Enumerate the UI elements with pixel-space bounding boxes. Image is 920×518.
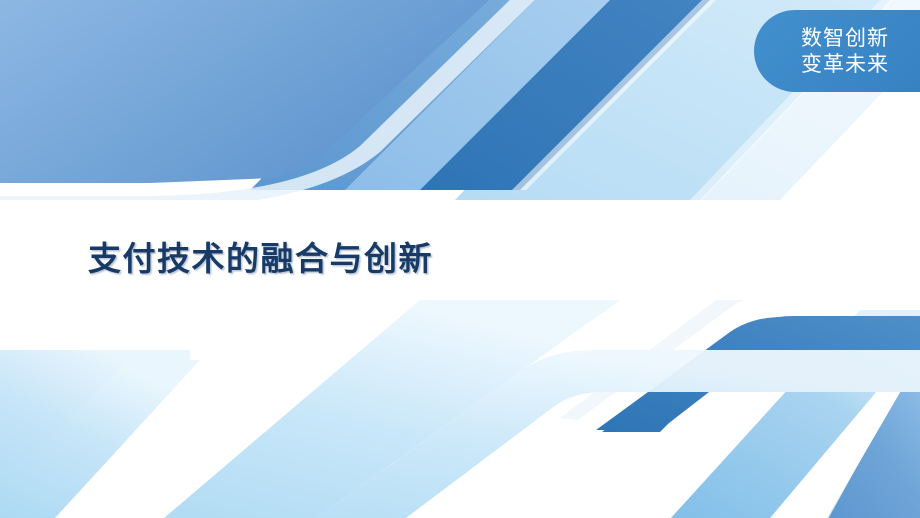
shape-bottom-left-band-a2 <box>0 360 200 518</box>
shape-bottom-right-blue-wedge <box>820 358 920 518</box>
shape-bottom-left-band-a <box>0 350 190 518</box>
slide-canvas: 数智创新 变革未来 支付技术的融合与创新 <box>0 0 920 518</box>
page-title: 支付技术的融合与创新 <box>88 232 433 280</box>
shape-bottom-dark-ribbon <box>596 317 920 430</box>
shape-top-band-light <box>330 0 620 190</box>
shape-bottom-right-light-wedge <box>660 310 920 518</box>
badge-line-2: 变革未来 <box>801 51 889 77</box>
shape-top-band-deep <box>400 0 720 190</box>
shape-bottom-dark-ribbon-body <box>602 316 920 432</box>
shape-bottom-left-band-b <box>150 300 620 518</box>
shape-panel-shadow-outline <box>0 0 545 208</box>
shape-bottom-pale-elbow <box>160 350 920 518</box>
bottom-decoration-group <box>0 282 920 518</box>
shape-top-left-panel <box>0 0 500 183</box>
brand-badge: 数智创新 变革未来 <box>754 10 920 92</box>
badge-line-1: 数智创新 <box>801 25 889 51</box>
shape-bottom-right-separator <box>800 330 920 518</box>
shape-top-band-mid <box>250 0 545 190</box>
shape-ribbon-outline <box>560 282 920 420</box>
shape-top-separator-a <box>512 0 726 190</box>
